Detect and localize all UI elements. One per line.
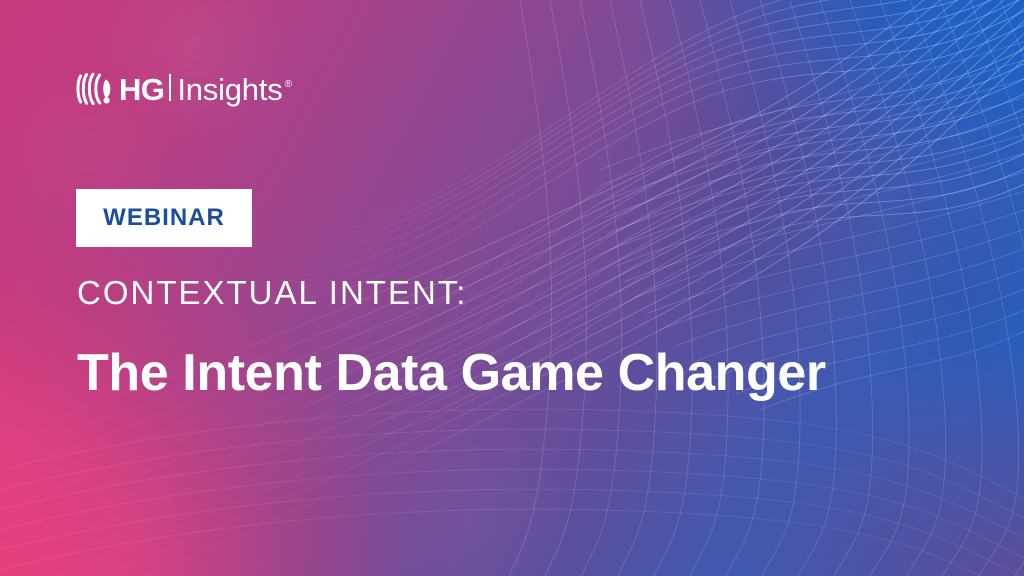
logo-name-bold: HG — [119, 74, 164, 105]
logo-name-light: Insights — [177, 74, 282, 105]
slide-content: HG Insights ® WEBINAR CONTEXTUAL INTENT:… — [0, 0, 1024, 576]
webinar-title-slide: HG Insights ® WEBINAR CONTEXTUAL INTENT:… — [0, 0, 1024, 576]
webinar-badge: WEBINAR — [76, 189, 252, 247]
logo-wordmark: HG Insights ® — [119, 73, 292, 105]
registered-trademark-icon: ® — [285, 79, 292, 90]
hg-insights-logo: HG Insights ® — [76, 68, 292, 110]
hg-insights-arc-mark — [76, 72, 114, 106]
title-eyebrow: CONTEXTUAL INTENT: — [77, 274, 467, 312]
webinar-badge-label: WEBINAR — [103, 204, 225, 232]
title-headline: The Intent Data Game Changer — [77, 343, 826, 403]
logo-divider — [169, 74, 171, 101]
